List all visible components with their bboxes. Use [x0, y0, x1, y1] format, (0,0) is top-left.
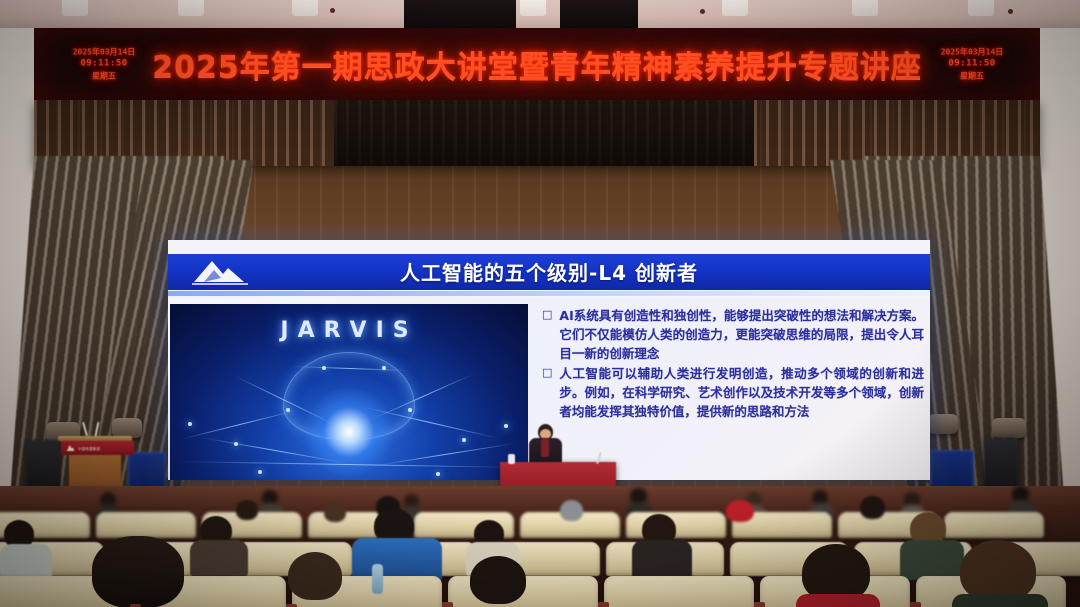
- presenter-scarf: [541, 439, 549, 457]
- seat-post: [754, 602, 765, 607]
- curtain-tieback-right: [992, 418, 1026, 438]
- water-bottle: [372, 564, 383, 594]
- auditorium-photo: 2025年03月14日 09:11:50 星期五 2025年第一期思政大讲堂暨青…: [0, 0, 1080, 607]
- banner-title: 2025年第一期思政大讲堂暨青年精神素养提升专题讲座: [34, 42, 1040, 86]
- seat[interactable]: [604, 576, 754, 607]
- bullet-text: 人工智能可以辅助人类进行发明创造，推动多个领域的创新和进步。例如，在科学研究、艺…: [559, 364, 924, 421]
- mountain-emblem-icon: [66, 444, 75, 452]
- jarvis-caption: JARVIS: [170, 318, 528, 343]
- ceiling-light-panel: [852, 0, 878, 16]
- ceiling-light-panel: [62, 0, 88, 16]
- list-item: □ 人工智能可以辅助人类进行发明创造，推动多个领域的创新和进步。例如，在科学研究…: [542, 364, 924, 421]
- led-clock-right-date: 2025年03月14日: [924, 46, 1020, 57]
- audience-area: [0, 486, 1080, 607]
- podium-text: 中国电建集团: [78, 446, 100, 451]
- led-clock-right-weekday: 星期五: [924, 70, 1020, 81]
- bullet-text: AI系统具有创造性和独创性，能够提出突破性的想法和解决方案。它们不仅能模仿人类的…: [559, 306, 924, 363]
- ceiling-light-panel: [520, 0, 546, 16]
- led-banner: 2025年03月14日 09:11:50 星期五 2025年第一期思政大讲堂暨青…: [34, 28, 1040, 100]
- seat[interactable]: [944, 512, 1044, 538]
- slide-bullet-list: □ AI系统具有创造性和独创性，能够提出突破性的想法和解决方案。它们不仅能模仿人…: [528, 298, 930, 480]
- ceiling-light-panel: [968, 0, 994, 16]
- seat[interactable]: [96, 512, 196, 538]
- ceiling: [0, 0, 1080, 30]
- seat-post: [910, 602, 921, 607]
- led-clock-right: 2025年03月14日 09:11:50 星期五: [924, 46, 1020, 81]
- curtain-tieback-left-2: [112, 418, 142, 438]
- ceiling-light-panel: [178, 0, 204, 16]
- water-bottle: [508, 454, 515, 464]
- seat[interactable]: [626, 512, 726, 538]
- ceiling-light-panel: [292, 0, 318, 16]
- seat-post: [598, 602, 609, 607]
- list-item: □ AI系统具有创造性和独创性，能够提出突破性的想法和解决方案。它们不仅能模仿人…: [542, 306, 924, 363]
- seat-post: [442, 602, 453, 607]
- led-clock-right-time: 09:11:50: [924, 58, 1020, 71]
- ceiling-light-panel: [722, 0, 748, 16]
- slide-title: 人工智能的五个级别-L4 创新者: [168, 257, 930, 286]
- curtain-tieback-right-2: [928, 414, 958, 434]
- podium-nameplate: 中国电建集团: [61, 441, 134, 455]
- bullet-marker-icon: □: [542, 364, 552, 421]
- bullet-marker-icon: □: [542, 306, 552, 363]
- slide-image-jarvis: JARVIS: [170, 304, 528, 480]
